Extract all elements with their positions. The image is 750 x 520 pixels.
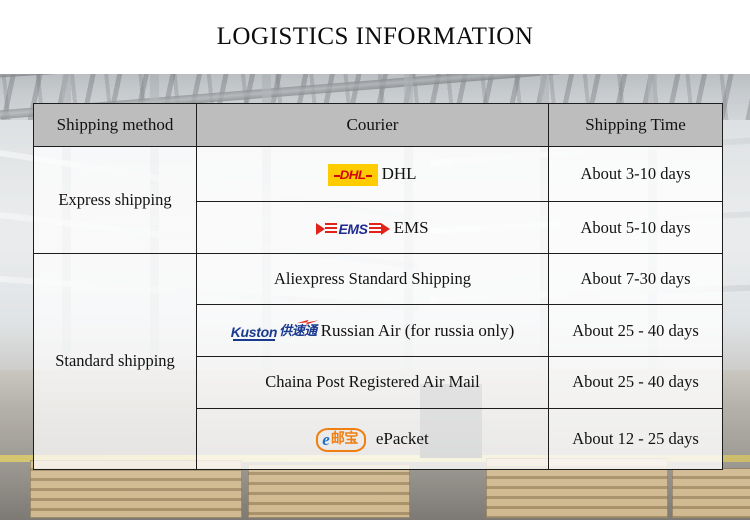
shipping-method-express: Express shipping bbox=[34, 147, 197, 254]
shipping-time-russian-air: About 25 - 40 days bbox=[549, 305, 723, 357]
ems-logo: EMS bbox=[316, 222, 389, 236]
shipping-time-ems: About 5-10 days bbox=[549, 202, 723, 254]
courier-cell-russian-air: Kuston供速通 Russian Air (for russia only) bbox=[197, 305, 549, 357]
header-shipping-time: Shipping Time bbox=[549, 104, 723, 147]
table-row: Standard shipping Aliexpress Standard Sh… bbox=[34, 253, 723, 305]
courier-name-ems: EMS bbox=[394, 218, 429, 238]
shipping-time-dhl: About 3-10 days bbox=[549, 147, 723, 202]
logistics-table: Shipping method Courier Shipping Time Ex… bbox=[33, 103, 723, 470]
logistics-information-banner: LOGISTICS INFORMATION Shipping method Co… bbox=[0, 0, 750, 520]
courier-cell-aliexpress: Aliexpress Standard Shipping bbox=[197, 253, 549, 305]
epacket-logo-text: e bbox=[322, 431, 330, 448]
table-row: Express shipping DHL DHL About 3-10 days bbox=[34, 147, 723, 202]
shipping-time-epacket: About 12 - 25 days bbox=[549, 408, 723, 469]
courier-name-russian-air: Russian Air (for russia only) bbox=[321, 321, 515, 341]
header-courier: Courier bbox=[197, 104, 549, 147]
courier-name-aliexpress: Aliexpress Standard Shipping bbox=[274, 269, 471, 289]
header-shipping-method: Shipping method bbox=[34, 104, 197, 147]
ems-logo-text: EMS bbox=[337, 222, 368, 236]
kuston-logo: Kuston供速通 bbox=[231, 325, 317, 339]
courier-name-epacket: ePacket bbox=[376, 429, 429, 449]
courier-cell-china-post: Chaina Post Registered Air Mail bbox=[197, 357, 549, 409]
dhl-logo: DHL bbox=[328, 164, 377, 186]
table-header-row: Shipping method Courier Shipping Time bbox=[34, 104, 723, 147]
shipping-method-standard: Standard shipping bbox=[34, 253, 197, 469]
dhl-logo-text: DHL bbox=[340, 169, 366, 181]
shipping-time-aliexpress: About 7-30 days bbox=[549, 253, 723, 305]
courier-name-dhl: DHL bbox=[382, 164, 417, 184]
shipping-time-china-post: About 25 - 40 days bbox=[549, 357, 723, 409]
kuston-logo-text: Kuston bbox=[231, 325, 277, 339]
kuston-logo-text-cn: 供速通 bbox=[279, 325, 317, 338]
epacket-logo-text-cn: 邮宝 bbox=[331, 432, 358, 446]
courier-cell-epacket: e邮宝 ePacket bbox=[197, 408, 549, 469]
courier-cell-dhl: DHL DHL bbox=[197, 147, 549, 202]
courier-name-china-post: Chaina Post Registered Air Mail bbox=[265, 372, 479, 392]
epacket-logo: e邮宝 bbox=[316, 428, 366, 452]
page-title: LOGISTICS INFORMATION bbox=[0, 0, 750, 74]
courier-cell-ems: EMS EMS bbox=[197, 202, 549, 254]
logistics-table-wrapper: Shipping method Courier Shipping Time Ex… bbox=[33, 103, 722, 470]
